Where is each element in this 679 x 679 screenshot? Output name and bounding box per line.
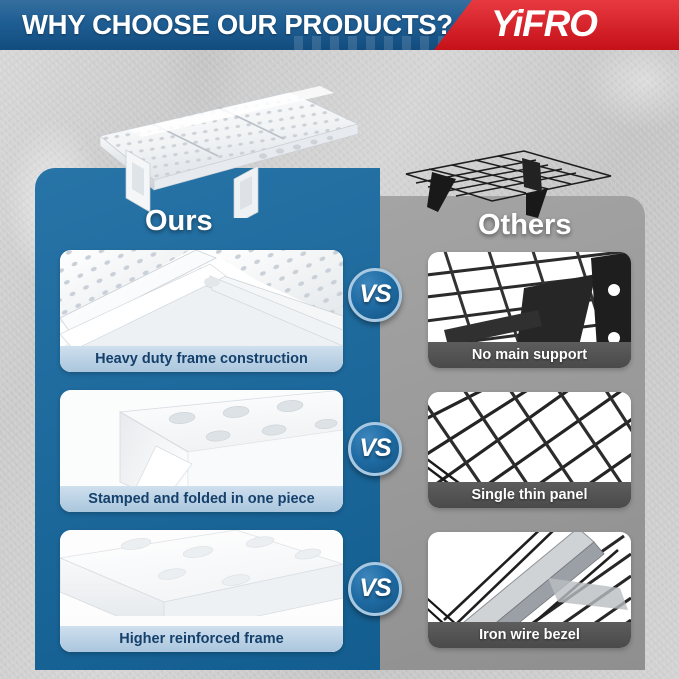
caption-others-row-3: Iron wire bezel — [428, 622, 631, 648]
caption-ours-row-1: Heavy duty frame construction — [60, 346, 343, 372]
product-comparison-poster: WHY CHOOSE OUR PRODUCTS? YiFRO — [0, 0, 679, 679]
caption-ours-row-3: Higher reinforced frame — [60, 626, 343, 652]
vs-label: VS — [359, 574, 390, 603]
card-ours-row-1: Heavy duty frame construction — [60, 250, 343, 372]
brand-logo: YiFRO — [491, 3, 597, 45]
vs-label: VS — [359, 280, 390, 309]
vs-badge-row-3: VS — [348, 562, 402, 616]
caption-others-row-2: Single thin panel — [428, 482, 631, 508]
card-others-row-1: No main support — [428, 252, 631, 368]
heading-ours: Ours — [145, 205, 213, 238]
vs-badge-row-1: VS — [348, 268, 402, 322]
hero-image-others — [396, 146, 621, 218]
vs-badge-row-2: VS — [348, 422, 402, 476]
card-ours-row-2: Stamped and folded in one piece — [60, 390, 343, 512]
vs-label: VS — [359, 434, 390, 463]
page-title: WHY CHOOSE OUR PRODUCTS? — [22, 9, 453, 41]
header-banner: WHY CHOOSE OUR PRODUCTS? YiFRO — [0, 0, 679, 50]
heading-others: Others — [478, 209, 571, 242]
card-ours-row-3: Higher reinforced frame — [60, 530, 343, 652]
hero-image-ours — [58, 78, 358, 218]
card-others-row-2: Single thin panel — [428, 392, 631, 508]
card-others-row-3: Iron wire bezel — [428, 532, 631, 648]
caption-others-row-1: No main support — [428, 342, 631, 368]
caption-ours-row-2: Stamped and folded in one piece — [60, 486, 343, 512]
brand-wedge: YiFRO — [434, 0, 679, 50]
